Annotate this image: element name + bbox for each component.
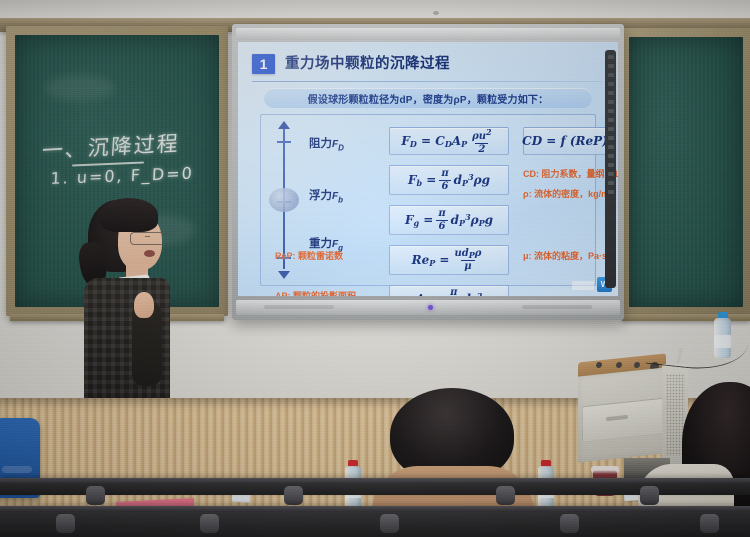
desk-edge [0,506,750,511]
note-projected-area: AP: 颗粒的投影面积 [275,289,356,296]
desk-leg [86,486,105,505]
force-label-buoyancy: 浮力Fb [309,187,343,204]
side-control-button[interactable] [608,145,614,149]
force-label-drag-text: 阻力 [309,138,332,150]
presentation-slide[interactable]: 1 重力场中颗粒的沉降过程 假设球形颗粒粒径为dP，密度为ρP，颗粒受力如下： [238,42,618,296]
chalk-heading: 一、沉降过程 [41,127,181,165]
desk-leg [560,514,579,533]
side-control-button[interactable] [608,154,614,158]
axis-arrow-up-icon [278,121,290,129]
slide-watermark [572,281,594,290]
side-control-button[interactable] [608,82,614,86]
side-control-button[interactable] [608,127,614,131]
slide-header: 1 重力场中颗粒的沉降过程 [252,54,604,76]
display-power-led [428,305,433,310]
slide-content-panel: 阻力FD 浮力Fb 重力Fg FD = CDAP ρu22 Fb = [260,114,596,286]
formula-box-buoyancy: Fb = π6 dP3ρg [389,165,509,195]
formula-box-drag: FD = CDAP ρu22 [389,127,509,155]
wall-speck [433,11,439,15]
force-label-drag: 阻力FD [309,135,344,152]
formula-box-gravity: Fg = π6 dP3ρPg [389,205,509,235]
side-control-button[interactable] [608,172,614,176]
desk-leg [496,486,515,505]
side-control-button[interactable] [608,91,614,95]
desk-leg [200,514,219,533]
desk-edge [0,478,750,483]
lecture-desk-front [0,506,750,537]
display-bezel: 1 重力场中颗粒的沉降过程 假设球形颗粒粒径为dP，密度为ρP，颗粒受力如下： [238,42,618,296]
assumption-banner: 假设球形颗粒粒径为dP，密度为ρP，颗粒受力如下： [264,88,592,108]
classroom-photo: 一、沉降过程 1. u=0, F_D=0 1 重力场中颗粒的沉降过程 假设球形颗… [0,0,750,537]
display-bottom-bar [236,300,620,315]
note-mu: μ: 流体的粘度，Pa·s [523,249,607,262]
desk-leg [56,514,75,533]
display-vent [522,305,592,309]
formula-box-area: AP = π4 dP2 [389,285,509,296]
chalk-subline: 1. u=0, F_D=0 [50,163,194,188]
eyeglasses-icon [130,232,166,245]
desk-leg [640,486,659,505]
side-control-button[interactable] [608,73,614,77]
student-right [660,382,750,522]
note-rho: ρ: 流体的密度，kg/m³ [523,187,612,200]
side-control-button[interactable] [608,190,614,194]
formula-box-cd: CD = f (ReP) [523,127,607,155]
desk-leg [700,514,719,533]
teacher-hair-top [100,198,158,232]
blackboard-right-surface [629,37,743,307]
axis-tick [277,141,291,143]
side-control-button[interactable] [608,100,614,104]
axis-arrow-down-icon [278,271,290,279]
note-reynolds: ReP: 颗粒雷诺数 [275,249,343,262]
desk-leg [284,486,303,505]
slide-title: 重力场中颗粒的沉降过程 [285,54,450,74]
chalk-dust [45,75,115,101]
interactive-whiteboard[interactable]: 1 重力场中颗粒的沉降过程 假设球形颗粒粒径为dP，密度为ρP，颗粒受力如下： [232,24,624,320]
teacher-hand [134,292,154,318]
force-label-buoyancy-text: 浮力 [309,190,332,202]
display-top-bar [236,28,620,40]
ceiling-shadow [0,0,750,18]
desk-leg [380,514,399,533]
blackboard-right [620,28,750,316]
title-divider [252,81,602,82]
teacher-mouth [144,250,155,257]
display-vent [264,305,334,309]
side-control-button[interactable] [608,181,614,185]
side-control-button[interactable] [608,55,614,59]
chair-backrest-slot [2,466,32,473]
water-bottle-top [714,312,731,358]
side-control-button[interactable] [608,109,614,113]
note-cd: CD: 阻力系数，量纲为1 [523,167,618,180]
slide-number-badge: 1 [252,54,275,74]
side-control-button[interactable] [608,136,614,140]
display-side-controls[interactable] [605,50,616,288]
lecture-desk-back [0,478,750,495]
formula-box-reynolds: ReP = udPρμ [389,245,509,275]
side-control-button[interactable] [608,64,614,68]
side-control-button[interactable] [608,163,614,167]
side-control-button[interactable] [608,118,614,122]
particle-sphere-icon [269,188,299,212]
bottle-label [714,335,731,349]
bottle-body [714,318,731,358]
